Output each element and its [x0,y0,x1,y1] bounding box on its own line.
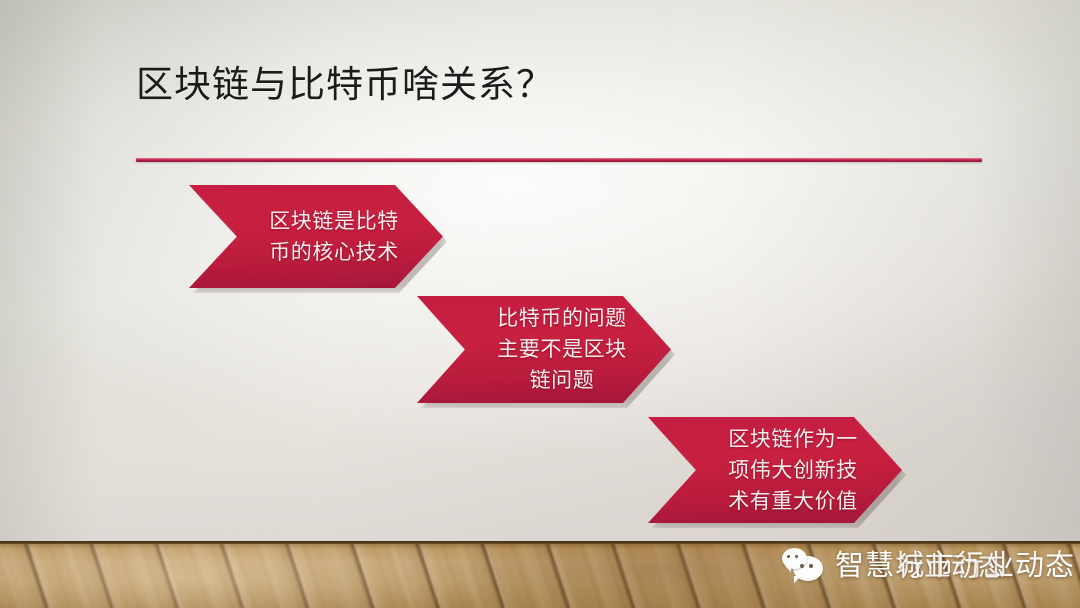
wechat-bubble-small-tail [785,566,791,572]
wechat-eye-1 [800,564,804,568]
slide-canvas: 区块链与比特币啥关系？ 区块链是比特 币的核心技术 比特币的问题 主要不是区块 … [0,0,1080,608]
chevron-label-3: 区块链作为一 项伟大创新技 术有重大价值 [682,424,868,517]
title-divider-rule [136,158,982,162]
wechat-icon [782,548,826,584]
watermark: 智慧城市行业动态 行业动态 [782,544,1075,588]
chevron-label-1: 区块链是比特 币的核心技术 [223,206,409,268]
wechat-eye-4 [795,555,798,558]
wechat-eye-2 [809,564,813,568]
watermark-text-wrap: 智慧城市行业动态 行业动态 [835,546,1075,586]
wechat-bubble-large-tail [794,576,801,583]
chevron-label-2: 比特币的问题 主要不是区块 链问题 [451,303,637,396]
wechat-eye-3 [787,555,790,558]
watermark-overlay-text: 行业动态 [897,547,1005,587]
page-title: 区块链与比特币啥关系？ [136,63,554,107]
